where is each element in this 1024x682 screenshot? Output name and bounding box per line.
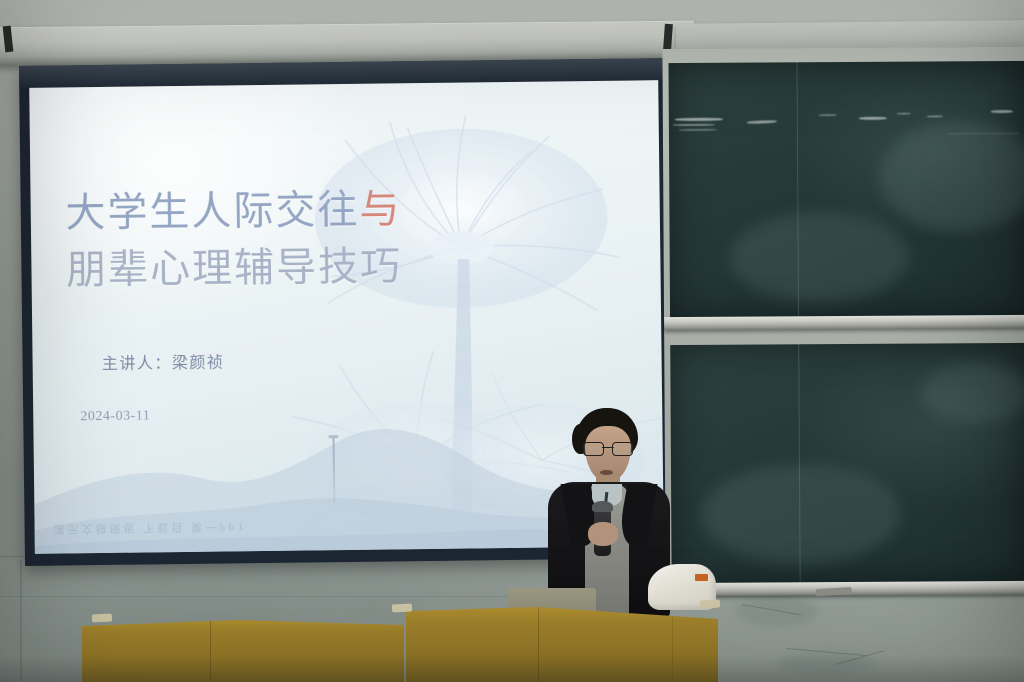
slide-title: 大学生人际交往与 朋辈心理辅导技巧 <box>65 181 402 299</box>
mouth <box>600 470 613 475</box>
glasses-icon <box>583 442 633 454</box>
slide-presenter: 主讲人：梁颜祯 <box>102 349 225 374</box>
slide-watermark: 演示文稿模板 下载自 第一PPT <box>53 519 247 537</box>
chalk-smudge <box>701 464 902 565</box>
chalk-smudge <box>879 121 1024 232</box>
classroom-photo: 大学生人际交往与 朋辈心理辅导技巧 主讲人：梁颜祯 2024-03-11 演示文… <box>0 0 1024 682</box>
floor-shadow <box>0 656 1024 682</box>
chalk-rail-middle <box>664 315 1024 330</box>
slide-title-accent: 与 <box>359 186 402 232</box>
slide-date: 2024-03-11 <box>80 408 150 425</box>
podium-clip <box>700 599 720 608</box>
bag-label <box>695 574 708 581</box>
blackboard-upper-panel <box>669 61 1024 319</box>
slide-title-line1: 大学生人际交往 <box>65 187 360 236</box>
microphone-head <box>592 501 613 512</box>
blackboard <box>662 47 1024 569</box>
hand <box>588 522 618 546</box>
chalk-smudge <box>920 363 1024 424</box>
blackboard-lower-panel <box>670 343 1024 585</box>
podium-clip <box>392 603 412 612</box>
podium-clip <box>92 613 112 622</box>
chalk-smudge <box>729 212 910 303</box>
slide-title-line2: 朋辈心理辅导技巧 <box>66 238 403 299</box>
